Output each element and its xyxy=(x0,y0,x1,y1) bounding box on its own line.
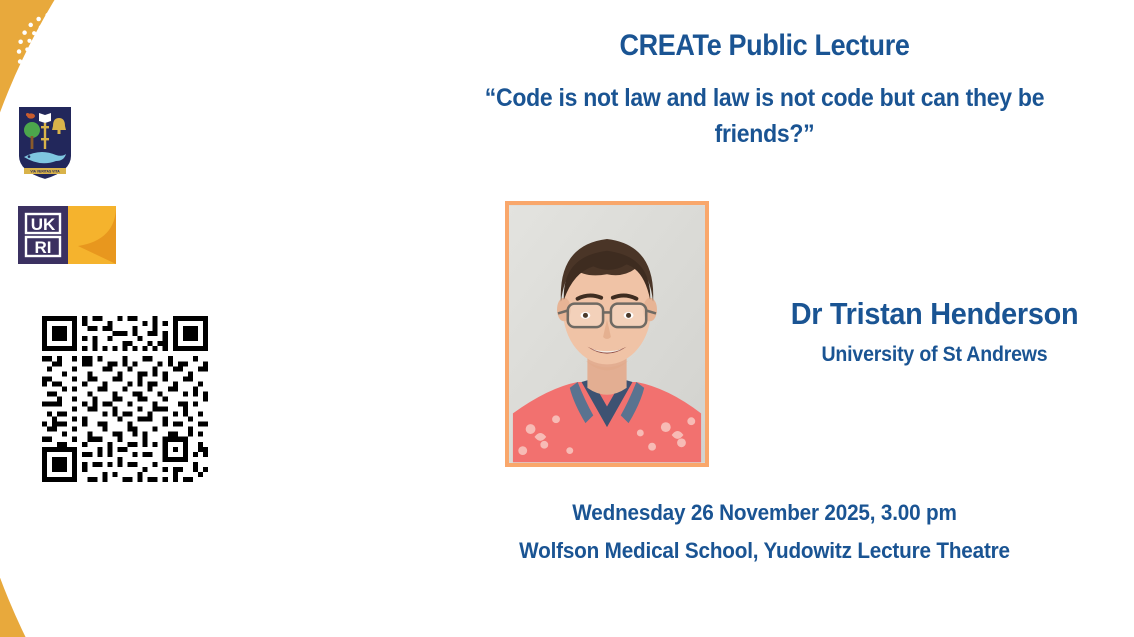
speaker-name: Dr Tristan Henderson xyxy=(749,296,1120,332)
event-date-time: Wednesday 26 November 2025, 3.00 pm xyxy=(425,500,1105,526)
ahrc-line-3: Research Council xyxy=(130,244,247,262)
ukri-mark-icon: UK RI xyxy=(18,206,116,264)
tech-eye-icon xyxy=(24,519,128,593)
lecture-title: “Code is not law and law is not code but… xyxy=(425,63,1105,152)
create-copyright-dots-logo-icon xyxy=(12,8,102,98)
university-of-glasgow-logo: VIA VERITAS VITA University of Glasgow xyxy=(16,104,253,182)
branding-rail: CREATe xyxy=(0,0,320,637)
svg-text:RI: RI xyxy=(35,238,52,257)
university-of-glasgow-crest-icon: VIA VERITAS VITA xyxy=(16,104,74,182)
glasgow-wordmark-line2: of Glasgow xyxy=(86,143,253,177)
event-registration-qr-code[interactable] xyxy=(31,309,219,489)
decorative-icon-row xyxy=(24,512,254,600)
speaker-photo xyxy=(505,201,709,467)
glasgow-wordmark-line1: University xyxy=(86,109,253,143)
create-logo: CREATe xyxy=(12,8,272,98)
ahrc-wordmark: Arts and Humanities Research Council xyxy=(130,209,247,262)
university-of-glasgow-wordmark: University of Glasgow xyxy=(86,109,253,177)
speaker-block: Dr Tristan Henderson University of St An… xyxy=(735,296,1134,367)
create-wordmark: CREATe xyxy=(116,33,272,73)
ahrc-line-2: Humanities xyxy=(130,226,247,244)
event-content: CREATe Public Lecture “Code is not law a… xyxy=(395,0,1134,637)
event-details: Wednesday 26 November 2025, 3.00 pm Wolf… xyxy=(395,500,1134,564)
glasgow-wordmark-of: of xyxy=(86,143,112,179)
svg-text:UK: UK xyxy=(31,215,56,234)
poster-canvas: CREATe xyxy=(0,0,1134,637)
speaker-affiliation: University of St Andrews xyxy=(749,332,1120,367)
page-title: CREATe Public Lecture xyxy=(432,0,1097,63)
svg-text:VIA VERITAS VITA: VIA VERITAS VITA xyxy=(30,170,60,174)
glasgow-wordmark-glasgow: Glasgow xyxy=(121,140,253,180)
ahrc-line-1: Arts and xyxy=(130,209,247,227)
ukri-ahrc-logo: UK RI Arts and Humanities Research Counc… xyxy=(18,206,247,264)
lightbulb-gear-icon xyxy=(176,512,254,600)
event-venue: Wolfson Medical School, Yudowitz Lecture… xyxy=(425,526,1105,564)
